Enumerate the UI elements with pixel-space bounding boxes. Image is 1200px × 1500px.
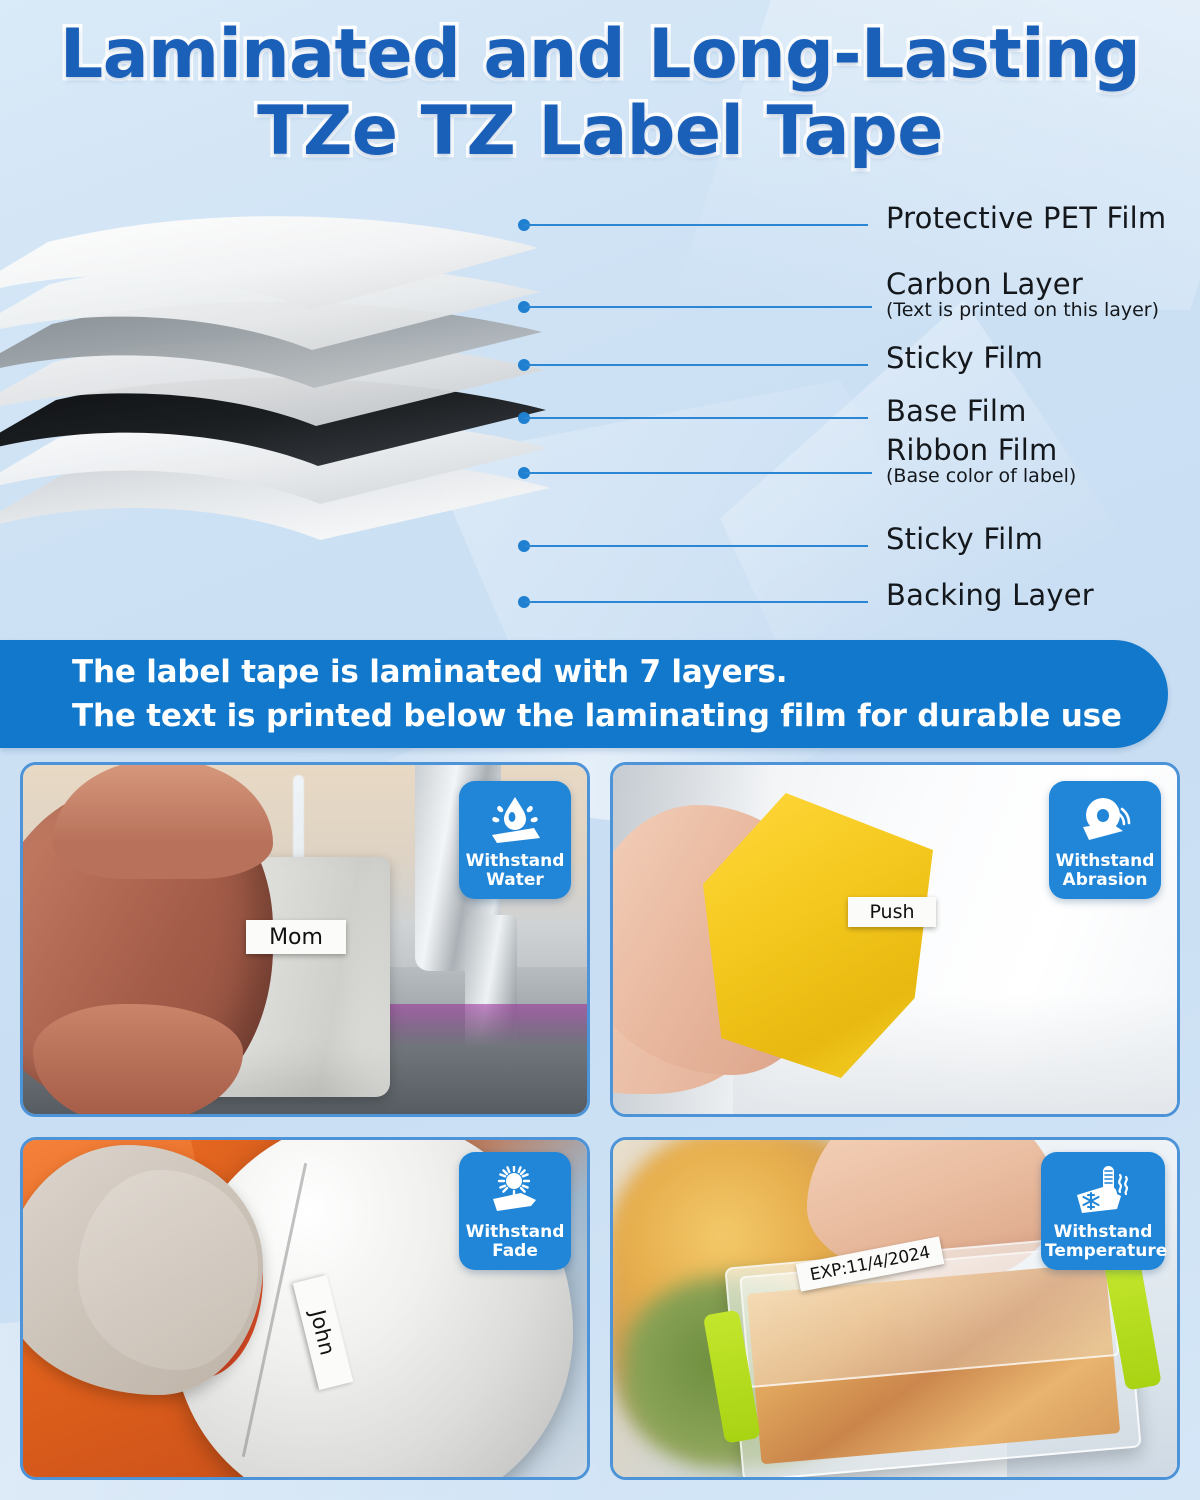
badge-label: Withstand Fade <box>463 1223 567 1261</box>
title-line-2: TZe TZ Label Tape <box>0 97 1200 166</box>
callout-text: Carbon Layer (Text is printed on this la… <box>886 269 1159 322</box>
layer-callouts: Protective PET Film Carbon Layer (Text i… <box>0 190 1200 640</box>
callout-text: Sticky Film <box>886 343 1043 373</box>
callout-text: Ribbon Film (Base color of label) <box>886 435 1076 488</box>
badge-withstand-water: Withstand Water <box>459 781 571 899</box>
infographic-page: Laminated and Long-Lasting TZe TZ Label … <box>0 0 1200 1500</box>
banner-line-2: The text is printed below the laminating… <box>72 694 1122 738</box>
page-title: Laminated and Long-Lasting TZe TZ Label … <box>0 20 1200 167</box>
callout-text: Backing Layer <box>886 580 1094 610</box>
callout-leader-line <box>524 306 872 308</box>
badge-label: Withstand Temperature <box>1045 1223 1161 1261</box>
callout-leader-line <box>524 224 868 226</box>
water-drop-splash-icon <box>463 791 567 849</box>
badge-label: Withstand Water <box>463 852 567 890</box>
feature-photo-grid: Mom Withstand Water <box>20 762 1180 1480</box>
callout-leader-line <box>524 601 868 603</box>
callout-text: Base Film <box>886 396 1027 426</box>
panel-withstand-fade: John <box>20 1137 590 1480</box>
callout-leader-line <box>524 364 868 366</box>
callout-leader-line <box>524 472 872 474</box>
panel-withstand-water: Mom Withstand Water <box>20 762 590 1117</box>
title-line-1: Laminated and Long-Lasting <box>0 20 1200 89</box>
callout-text: Protective PET Film <box>886 203 1166 233</box>
badge-withstand-abrasion: Withstand Abrasion <box>1049 781 1161 899</box>
badge-withstand-temperature: Withstand Temperature <box>1041 1152 1165 1270</box>
thermometer-snowflake-icon <box>1045 1162 1161 1220</box>
tape-layer-diagram: Protective PET Film Carbon Layer (Text i… <box>0 190 1200 640</box>
badge-label: Withstand Abrasion <box>1053 852 1157 890</box>
callout-leader-line <box>524 417 868 419</box>
callout-leader-line <box>524 545 868 547</box>
tape-label-mom: Mom <box>246 920 346 954</box>
badge-withstand-fade: Withstand Fade <box>459 1152 571 1270</box>
banner-line-1: The label tape is laminated with 7 layer… <box>72 650 1122 694</box>
panel-withstand-abrasion: Push Withstand Abrasion <box>610 762 1180 1117</box>
tape-roll-icon <box>1053 791 1157 849</box>
sun-icon <box>463 1162 567 1220</box>
tape-label-push: Push <box>848 897 936 927</box>
callout-text: Sticky Film <box>886 524 1043 554</box>
panel-withstand-temperature: EXP:11/4/2024 <box>610 1137 1180 1480</box>
laminate-banner: The label tape is laminated with 7 layer… <box>0 640 1168 748</box>
